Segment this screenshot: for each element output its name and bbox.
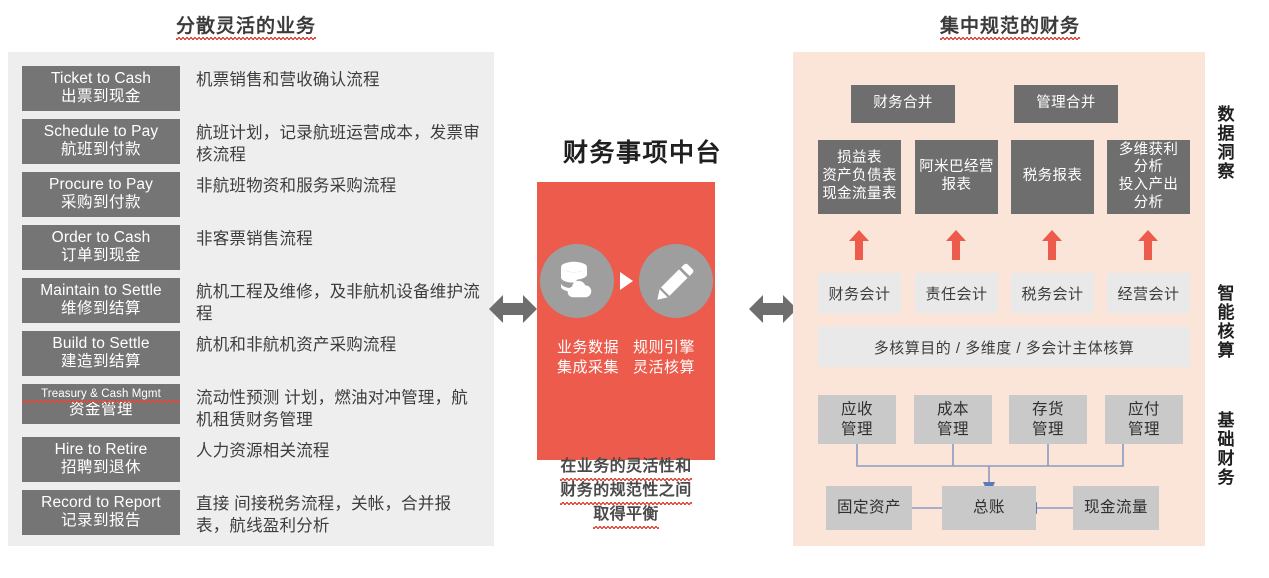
diagram-canvas: 分散灵活的业务 集中规范的财务 Ticket to Cash 出票到现金 机票销… [0, 0, 1269, 578]
side-label-char: 财 [1213, 449, 1239, 468]
mgmt-box-line1: 存货 [1032, 400, 1064, 419]
process-chip-cn: 招聘到退休 [22, 459, 180, 477]
process-description: 航机工程及维修，及非航机设备维护流程 [196, 278, 482, 326]
process-chip-cn: 出票到现金 [22, 88, 180, 106]
merge-box-label: 财务合并 [873, 95, 933, 113]
process-chip-cn: 记录到报告 [22, 512, 180, 530]
merge-box[interactable]: 财务合并 [851, 85, 955, 123]
process-chip-en: Maintain to Settle [22, 282, 180, 300]
side-label-data-insight: 数 据 洞 察 [1213, 105, 1239, 181]
side-label-char: 智 [1213, 284, 1239, 303]
accounting-box[interactable]: 财务会计 [818, 273, 901, 313]
ledger-box-label: 总账 [973, 498, 1005, 517]
play-arrow-icon [620, 272, 633, 290]
mgmt-box-line1: 应付 [1128, 400, 1160, 419]
process-chip-en: Ticket to Cash [22, 70, 180, 88]
side-label-char: 基 [1213, 411, 1239, 430]
side-label-char: 据 [1213, 124, 1239, 143]
report-box-line4: 分析 [1134, 195, 1164, 213]
side-label-char: 算 [1213, 341, 1239, 360]
accounting-box[interactable]: 税务会计 [1011, 273, 1094, 313]
mgmt-box-line2: 管理 [1128, 420, 1160, 439]
mgmt-box[interactable]: 成本 管理 [914, 395, 992, 444]
report-box-line1: 税务报表 [1023, 168, 1083, 186]
mgmt-box-line2: 管理 [937, 420, 969, 439]
process-chip-en: Order to Cash [22, 229, 180, 247]
side-label-char: 数 [1213, 105, 1239, 124]
report-box-line1: 多维获利 [1119, 142, 1179, 160]
center-title: 财务事项中台 [563, 133, 722, 169]
process-chip-cn: 采购到付款 [22, 194, 180, 212]
side-label-char: 能 [1213, 303, 1239, 322]
process-description: 非航班物资和服务采购流程 [196, 172, 482, 197]
process-chip-en: Hire to Retire [22, 441, 180, 459]
process-chip-cn: 资金管理 [22, 401, 180, 419]
center-footer-line1: 在业务的灵活性和 [560, 455, 691, 479]
process-chip-en: Schedule to Pay [22, 123, 180, 141]
mgmt-box[interactable]: 应付 管理 [1105, 395, 1183, 444]
side-label-char: 核 [1213, 322, 1239, 341]
center-platform-box: 业务数据 集成采集 规则引擎 灵活核算 [537, 182, 715, 460]
center-footer-line3: 取得平衡 [593, 503, 659, 527]
side-label-smart-accounting: 智 能 核 算 [1213, 284, 1239, 360]
center-caption-left: 业务数据 集成采集 [557, 338, 619, 377]
accounting-box-label: 财务会计 [828, 283, 890, 304]
merge-box[interactable]: 管理合并 [1014, 85, 1118, 123]
report-box[interactable]: 损益表 资产负债表 现金流量表 [818, 140, 901, 214]
process-description: 非客票销售流程 [196, 225, 482, 250]
process-chip[interactable]: Treasury & Cash Mgmt 资金管理 [22, 384, 180, 424]
process-chip[interactable]: Record to Report 记录到报告 [22, 490, 180, 535]
process-chip-en: Build to Settle [22, 335, 180, 353]
report-box-line2: 报表 [942, 177, 972, 195]
side-label-char: 务 [1213, 468, 1239, 487]
report-box-line2: 资产负债表 [822, 168, 897, 186]
center-footer-line2: 财务的规范性之间 [560, 479, 691, 503]
process-description: 直接 间接税务流程，关帐，合并报表，航线盈利分析 [196, 490, 482, 538]
process-chip[interactable]: Schedule to Pay 航班到付款 [22, 119, 180, 164]
center-footer-text: 在业务的灵活性和 财务的规范性之间 取得平衡 [537, 455, 715, 527]
process-description: 机票销售和营收确认流程 [196, 66, 482, 91]
database-cloud-icon [540, 244, 614, 318]
pencil-icon [639, 244, 713, 318]
up-arrow-icon [849, 230, 869, 260]
center-caption-left-line1: 业务数据 [557, 338, 619, 358]
left-panel-business-processes: Ticket to Cash 出票到现金 机票销售和营收确认流程 Schedul… [8, 52, 494, 546]
ledger-box-general-ledger[interactable]: 总账 [942, 486, 1036, 530]
process-chip-cn: 维修到结算 [22, 300, 180, 318]
process-chip[interactable]: Hire to Retire 招聘到退休 [22, 437, 180, 482]
up-arrow-icon [946, 230, 966, 260]
process-chip-cn: 订单到现金 [22, 247, 180, 265]
side-label-char: 洞 [1213, 143, 1239, 162]
process-chip-en: Record to Report [22, 494, 180, 512]
accounting-box[interactable]: 责任会计 [915, 273, 998, 313]
process-row: Treasury & Cash Mgmt 资金管理 流动性预测 计划，燃油对冲管… [22, 384, 482, 432]
report-box-line2: 分析 [1134, 159, 1164, 177]
process-row: Hire to Retire 招聘到退休 人力资源相关流程 [22, 437, 482, 482]
header-left-text: 分散灵活的业务 [176, 11, 316, 38]
process-chip[interactable]: Build to Settle 建造到结算 [22, 331, 180, 376]
center-caption-right-line1: 规则引擎 [633, 338, 695, 358]
center-caption-left-line2: 集成采集 [557, 358, 619, 378]
report-box[interactable]: 税务报表 [1011, 140, 1094, 214]
process-description: 流动性预测 计划，燃油对冲管理，航机租赁财务管理 [196, 384, 482, 432]
up-arrow-icon [1138, 230, 1158, 260]
header-left: 分散灵活的业务 [176, 11, 316, 38]
multi-accounting-bar-label: 多核算目的 / 多维度 / 多会计主体核算 [874, 337, 1135, 358]
header-right: 集中规范的财务 [940, 11, 1080, 38]
accounting-box[interactable]: 经营会计 [1107, 273, 1190, 313]
mgmt-box-line2: 管理 [841, 420, 873, 439]
process-description: 航班计划，记录航班运营成本，发票审核流程 [196, 119, 482, 167]
ledger-box-cash-flow[interactable]: 现金流量 [1073, 486, 1159, 530]
ledger-box-label: 现金流量 [1084, 498, 1148, 517]
process-row: Procure to Pay 采购到付款 非航班物资和服务采购流程 [22, 172, 482, 217]
merge-box-label: 管理合并 [1036, 95, 1096, 113]
right-panel-finance: 财务合并 管理合并 损益表 资产负债表 现金流量表 阿米巴经营 报表 税务报表 … [793, 52, 1205, 546]
process-row: Order to Cash 订单到现金 非客票销售流程 [22, 225, 482, 270]
ledger-box-label: 固定资产 [837, 498, 901, 517]
up-arrow-icon [1042, 230, 1062, 260]
mgmt-box[interactable]: 应收 管理 [818, 395, 896, 444]
report-box[interactable]: 阿米巴经营 报表 [915, 140, 998, 214]
report-box-line3: 投入产出 [1119, 177, 1179, 195]
center-caption-right-line2: 灵活核算 [633, 358, 695, 378]
process-description: 航机和非航机资产采购流程 [196, 331, 482, 356]
process-chip[interactable]: Order to Cash 订单到现金 [22, 225, 180, 270]
mgmt-box-line1: 成本 [937, 400, 969, 419]
mgmt-box-line1: 应收 [841, 400, 873, 419]
side-label-char: 础 [1213, 430, 1239, 449]
ledger-box-fixed-assets[interactable]: 固定资产 [826, 486, 912, 530]
accounting-box-label: 经营会计 [1117, 283, 1179, 304]
process-row: Schedule to Pay 航班到付款 航班计划，记录航班运营成本，发票审核… [22, 119, 482, 167]
center-icon-row [537, 244, 715, 318]
process-chip-cn: 建造到结算 [22, 353, 180, 371]
center-caption-row: 业务数据 集成采集 规则引擎 灵活核算 [537, 338, 715, 377]
header-right-text: 集中规范的财务 [940, 11, 1080, 38]
report-box-line3: 现金流量表 [822, 186, 897, 204]
side-label-basic-finance: 基 础 财 务 [1213, 411, 1239, 487]
process-chip[interactable]: Ticket to Cash 出票到现金 [22, 66, 180, 111]
mgmt-box-line2: 管理 [1032, 420, 1064, 439]
accounting-box-label: 责任会计 [925, 283, 987, 304]
side-label-char: 察 [1213, 162, 1239, 181]
multi-accounting-bar[interactable]: 多核算目的 / 多维度 / 多会计主体核算 [818, 327, 1190, 367]
process-row: Maintain to Settle 维修到结算 航机工程及维修，及非航机设备维… [22, 278, 482, 326]
process-row: Build to Settle 建造到结算 航机和非航机资产采购流程 [22, 331, 482, 376]
process-chip[interactable]: Maintain to Settle 维修到结算 [22, 278, 180, 323]
process-row: Ticket to Cash 出票到现金 机票销售和营收确认流程 [22, 66, 482, 111]
process-chip[interactable]: Procure to Pay 采购到付款 [22, 172, 180, 217]
process-row: Record to Report 记录到报告 直接 间接税务流程，关帐，合并报表… [22, 490, 482, 538]
double-arrow-icon [489, 291, 537, 327]
mgmt-box[interactable]: 存货 管理 [1009, 395, 1087, 444]
report-box-line1: 阿米巴经营 [919, 159, 994, 177]
process-description: 人力资源相关流程 [196, 437, 482, 462]
report-box[interactable]: 多维获利 分析 投入产出 分析 [1107, 140, 1190, 214]
process-chip-cn: 航班到付款 [22, 141, 180, 159]
process-chip-en: Treasury & Cash Mgmt [22, 388, 180, 401]
center-caption-right: 规则引擎 灵活核算 [633, 338, 695, 377]
report-box-line1: 损益表 [837, 150, 882, 168]
double-arrow-icon [749, 291, 797, 327]
process-chip-en: Procure to Pay [22, 176, 180, 194]
accounting-box-label: 税务会计 [1021, 283, 1083, 304]
